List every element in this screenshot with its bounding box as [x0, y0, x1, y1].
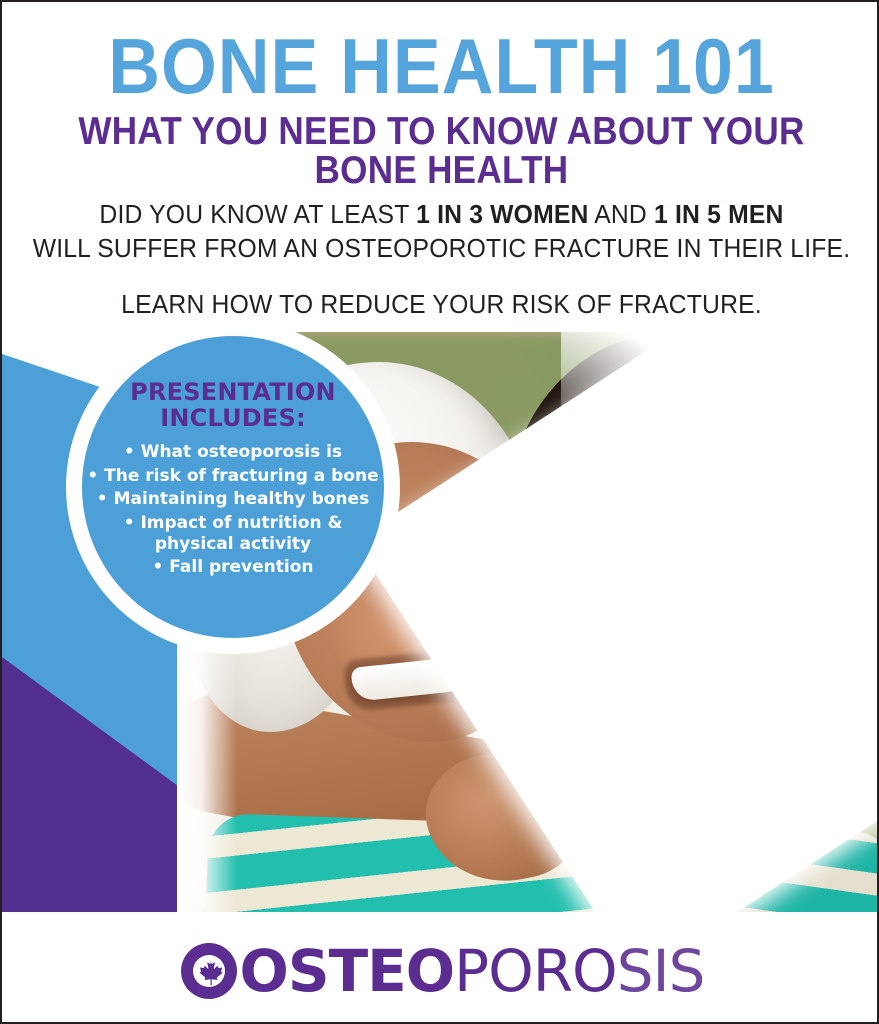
list-item: • Impact of nutrition & physical activit… [83, 513, 383, 554]
poster: BONE HEALTH 101 WHAT YOU NEED TO KNOW AB… [0, 0, 879, 1024]
intro-line-2: WILL SUFFER FROM AN OSTEOPOROTIC FRACTUR… [24, 232, 859, 266]
maple-leaf-circle-icon [179, 941, 239, 1001]
list-item: • Maintaining healthy bones [83, 489, 383, 510]
intro-line-3: LEARN HOW TO REDUCE YOUR RISK OF FRACTUR… [24, 288, 859, 322]
list-item: • What osteoporosis is [83, 442, 383, 463]
poster-header: BONE HEALTH 101 WHAT YOU NEED TO KNOW AB… [2, 2, 879, 190]
logo-wordmark: OSTEOPOROSIS [240, 942, 705, 1000]
intro-line-1-mid: AND [589, 199, 654, 229]
circle-heading: PRESENTATION INCLUDES: [98, 380, 368, 432]
intro-text-block: DID YOU KNOW AT LEAST 1 IN 3 WOMEN AND 1… [2, 198, 879, 321]
list-item: • Fall prevention [83, 557, 383, 578]
intro-stat-women: 1 IN 3 WOMEN [416, 199, 588, 229]
intro-line-1-pre: DID YOU KNOW AT LEAST [99, 199, 416, 229]
presentation-includes-circle: PRESENTATION INCLUDES: • What osteoporos… [82, 336, 384, 638]
circle-bullet-list: • What osteoporosis is • The risk of fra… [83, 442, 383, 581]
logo-text-poro: PORO [454, 942, 617, 1000]
page-title: BONE HEALTH 101 [37, 2, 846, 104]
footer: OSTEOPOROSIS [2, 917, 879, 1024]
page-subtitle: WHAT YOU NEED TO KNOW ABOUT YOUR BONE HE… [46, 104, 837, 190]
list-item: • The risk of fracturing a bone [83, 466, 383, 487]
intro-stat-men: 1 IN 5 MEN [654, 199, 784, 229]
logo-text-osteo: OSTEO [240, 942, 455, 1000]
osteoporosis-canada-logo: OSTEOPOROSIS [179, 939, 705, 1003]
intro-line-1: DID YOU KNOW AT LEAST 1 IN 3 WOMEN AND 1… [24, 198, 859, 232]
logo-text-sis: SIS [617, 942, 705, 1000]
